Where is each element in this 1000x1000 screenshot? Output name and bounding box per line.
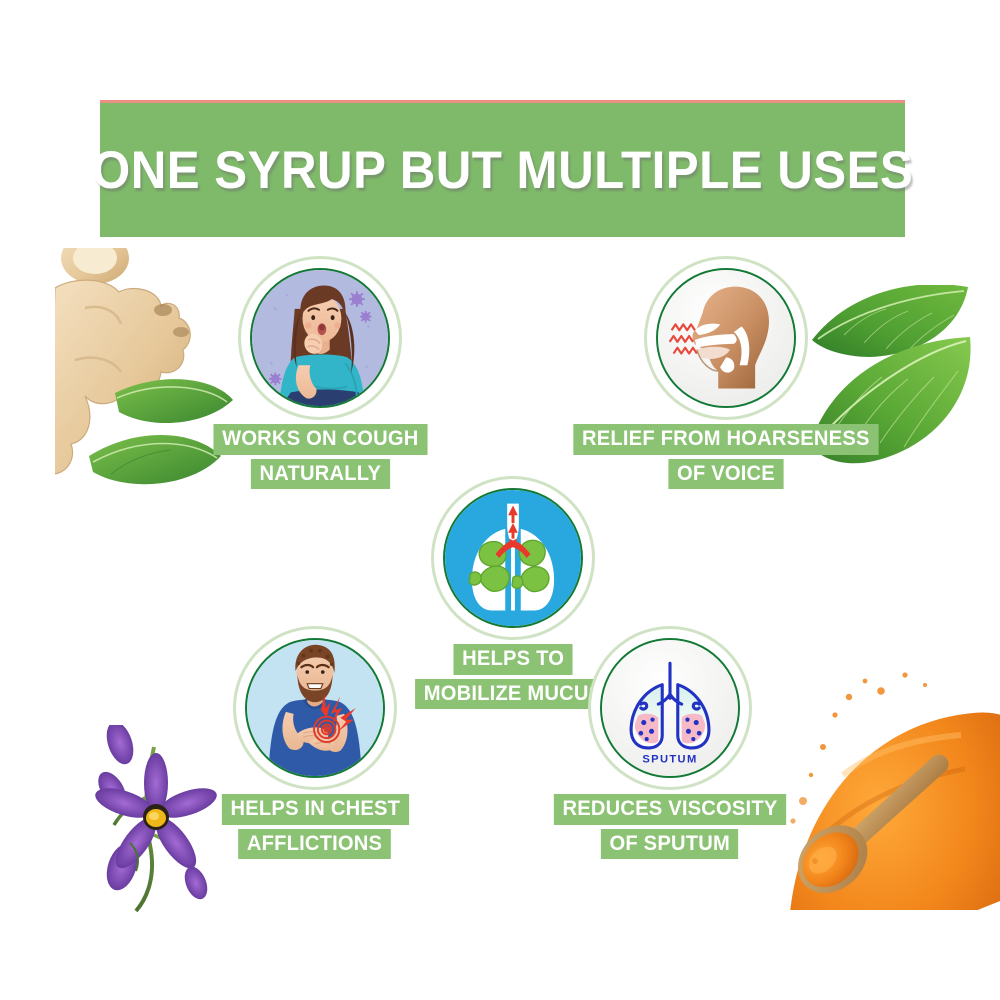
feature-label: WORKS ON COUGH NATURALLY [209, 424, 432, 489]
feature-chest-afflictions: HELPS IN CHEST AFFLICTIONS [217, 632, 413, 859]
header-banner: ONE SYRUP BUT MULTIPLE USES [100, 100, 905, 237]
feature-label: HELPS IN CHEST AFFLICTIONS [218, 794, 413, 859]
page-title: ONE SYRUP BUT MULTIPLE USES [92, 140, 913, 201]
label-line-1: HELPS IN CHEST [222, 794, 409, 825]
icon-ring [244, 262, 396, 414]
lungs-sputum-icon: SPUTUM [600, 638, 740, 778]
lungs-mucus-arrows-icon [443, 488, 583, 628]
feature-reduces-viscosity-of-sputum: SPUTUM REDUCES VISCOSITY OF SPUTUM [557, 632, 783, 859]
feature-relief-from-hoarseness: RELIEF FROM HOARSENESS OF VOICE [578, 262, 873, 489]
icon-ring [650, 262, 802, 414]
chest-pain-man-icon [245, 638, 385, 778]
label-line-1: HELPS TO [453, 644, 572, 675]
label-line-2: OF SPUTUM [601, 829, 739, 860]
label-line-2: OF VOICE [668, 459, 783, 490]
purple-kantakari-flower-photo [78, 725, 238, 915]
feature-label: REDUCES VISCOSITY OF SPUTUM [549, 794, 791, 859]
label-line-1: WORKS ON COUGH [213, 424, 427, 455]
label-line-2: NATURALLY [251, 459, 390, 490]
sputum-caption: SPUTUM [642, 753, 697, 765]
label-line-1: RELIEF FROM HOARSENESS [573, 424, 878, 455]
throat-anatomy-sound-waves-icon [656, 268, 796, 408]
label-line-2: AFFLICTIONS [239, 829, 392, 860]
label-line-1: REDUCES VISCOSITY [554, 794, 786, 825]
infographic-canvas: ONE SYRUP BUT MULTIPLE USES [0, 0, 1000, 1000]
coughing-woman-icon [250, 268, 390, 408]
icon-ring [437, 482, 589, 634]
turmeric-powder-spoon-photo [785, 655, 1000, 910]
icon-ring [239, 632, 391, 784]
feature-works-on-cough: WORKS ON COUGH NATURALLY [215, 262, 425, 489]
icon-ring: SPUTUM [594, 632, 746, 784]
feature-label: RELIEF FROM HOARSENESS OF VOICE [567, 424, 885, 489]
